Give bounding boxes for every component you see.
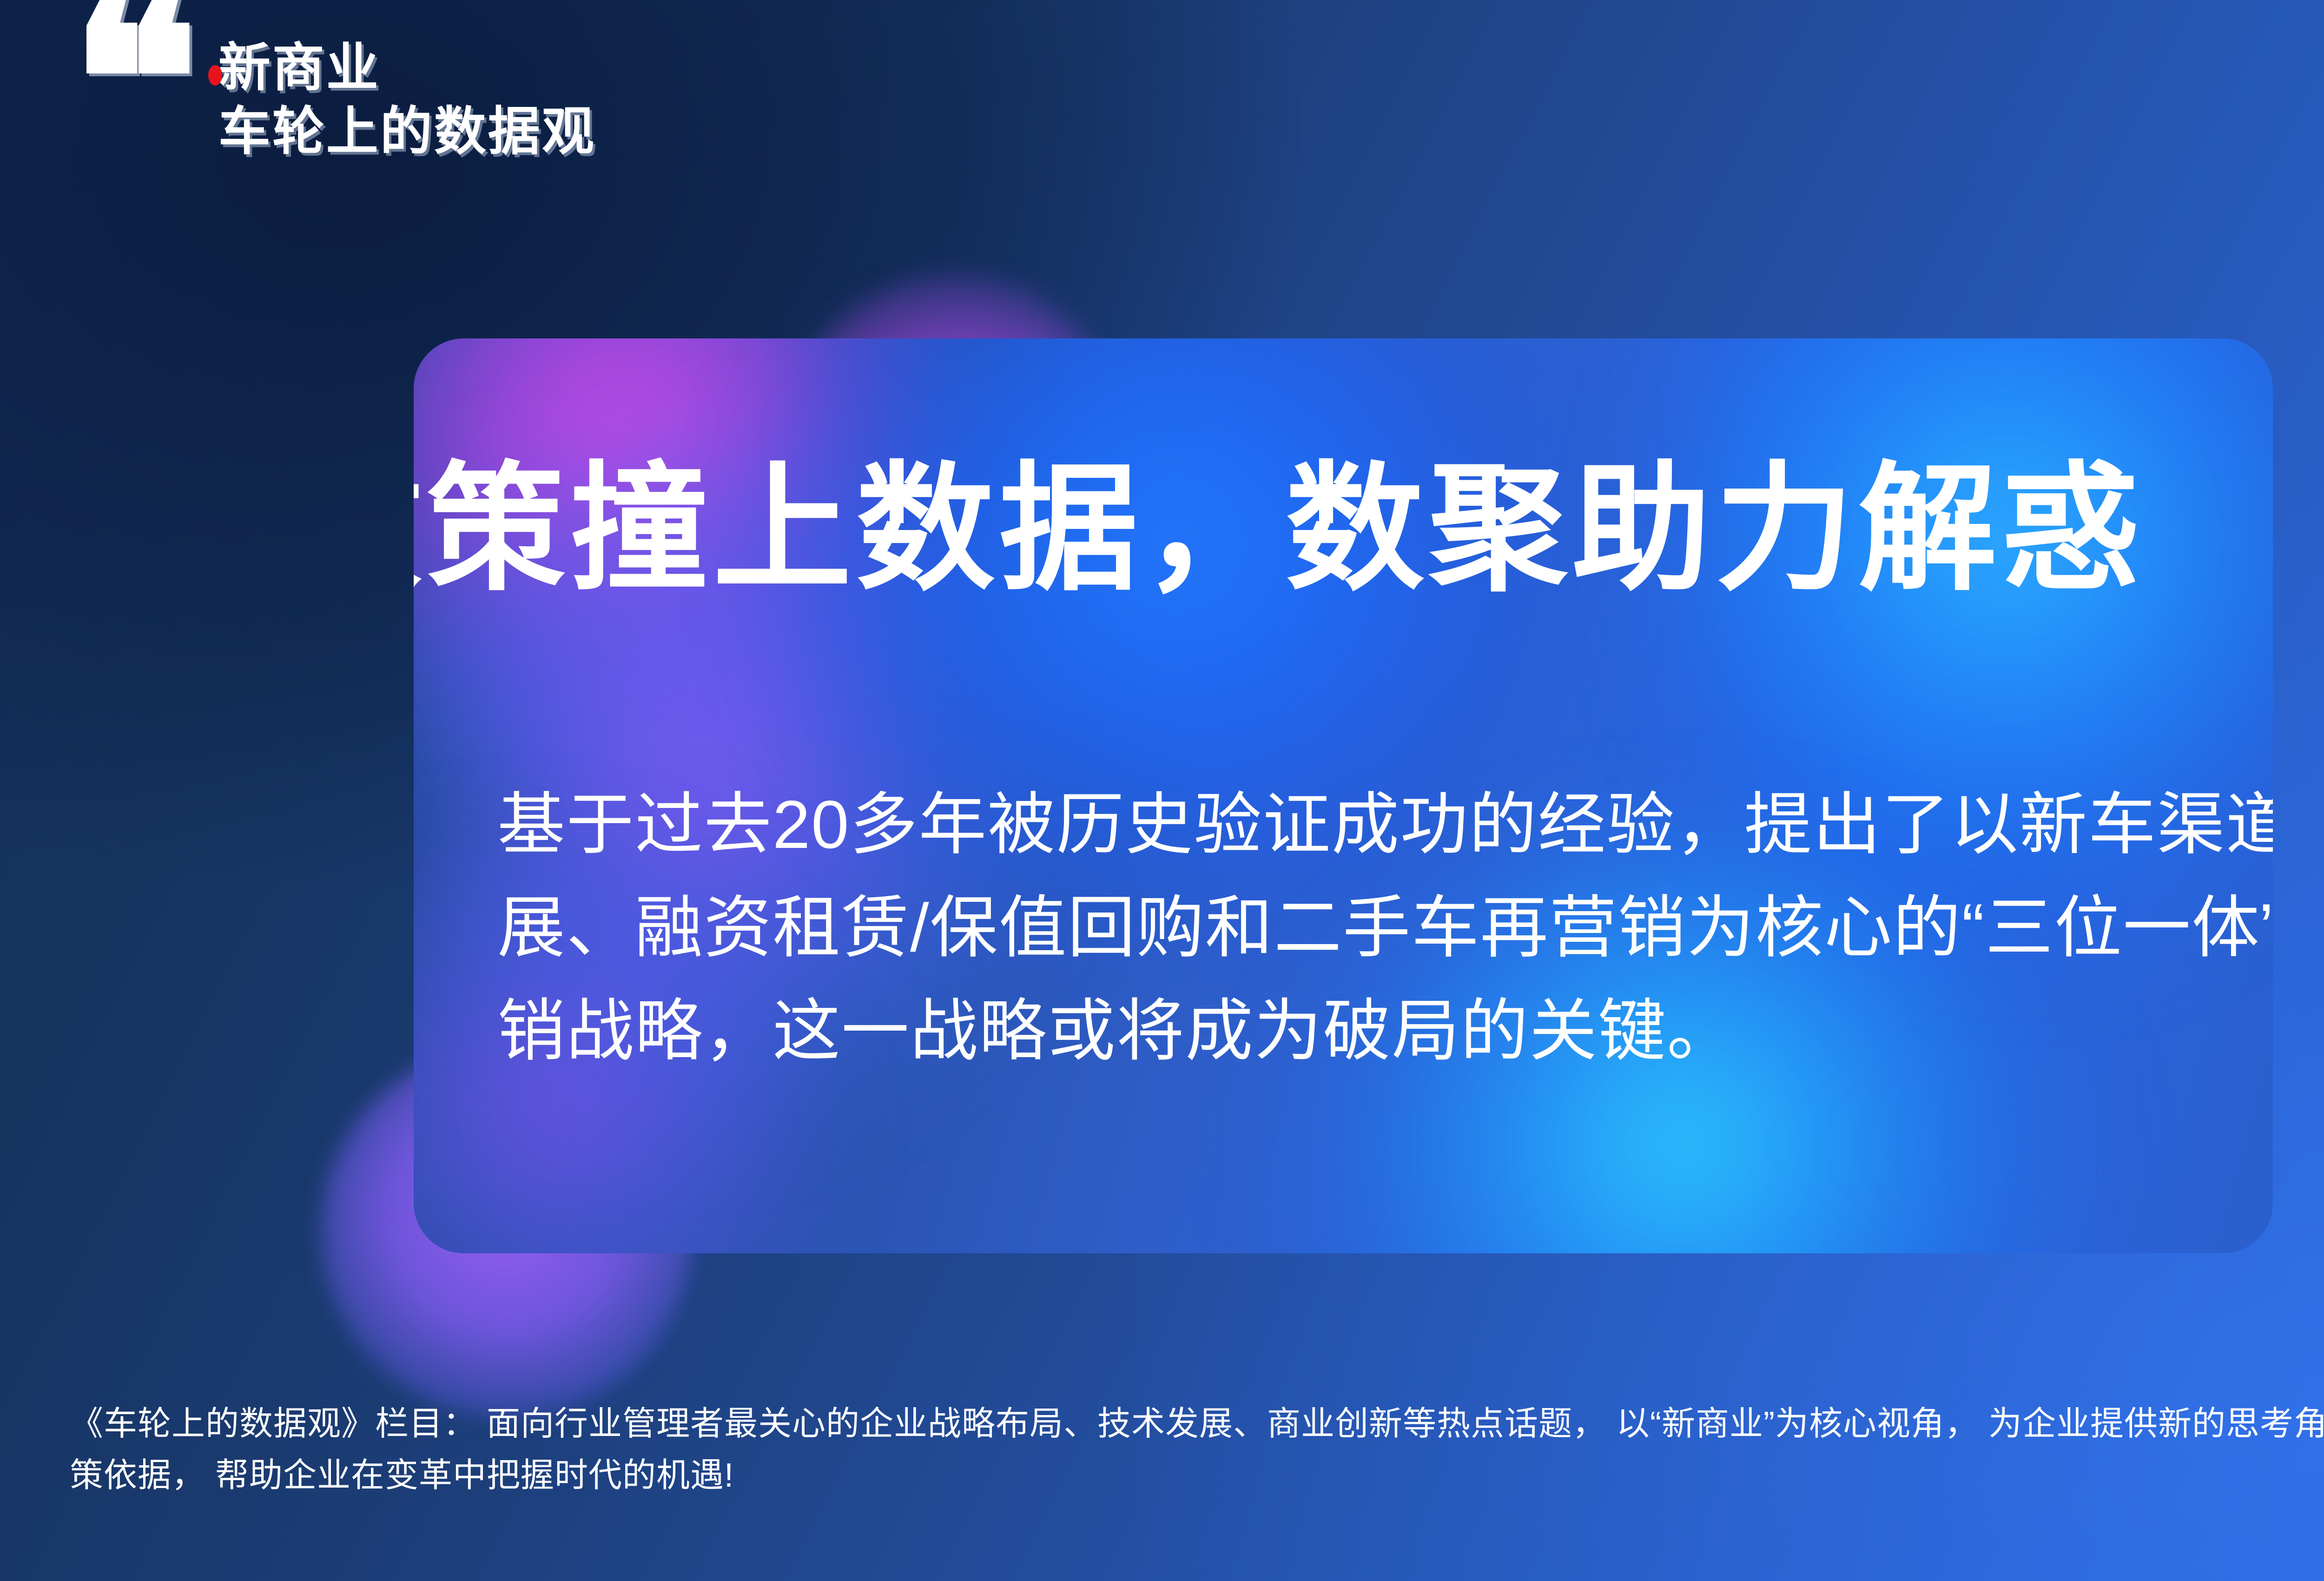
brand-logo-text: 新商业 车轮上的数据观 xyxy=(218,36,596,163)
brand-name-secondary: 车轮上的数据观 xyxy=(218,100,596,164)
brand-name-primary-label: 新商业 xyxy=(218,39,380,97)
footer-line-2: 策依据， 帮助企业在变革中把握时代的机遇! xyxy=(70,1450,2324,1502)
hero-body-line-3: 销战略，这一战略或将成为破局的关键。 xyxy=(497,979,2189,1083)
hero-card: 政策撞上数据，数聚助力解惑 基于过去20多年被历史验证成功的经验，提出了以新车渠… xyxy=(414,338,2273,1253)
hero-body-line-1: 基于过去20多年被历史验证成功的经验，提出了以新车渠道拓 xyxy=(497,773,2189,876)
brand-logo: ❝ 新商业 车轮上的数据观 xyxy=(70,28,596,163)
quote-mark-icon: ❝ xyxy=(70,6,191,155)
hero-body-line-2: 展、融资租赁/保值回购和二手车再营销为核心的“三位一体”营 xyxy=(497,876,2189,979)
footer-description: 《车轮上的数据观》栏目： 面向行业管理者最关心的企业战略布局、技术发展、商业创新… xyxy=(70,1398,2324,1502)
footer-line-1: 《车轮上的数据观》栏目： 面向行业管理者最关心的企业战略布局、技术发展、商业创新… xyxy=(70,1398,2324,1450)
hero-body-text: 基于过去20多年被历史验证成功的经验，提出了以新车渠道拓 展、融资租赁/保值回购… xyxy=(423,773,2264,1083)
brand-name-primary: 新商业 xyxy=(218,36,596,100)
red-dot-icon xyxy=(208,65,222,86)
page-title: 政策撞上数据，数聚助力解惑 xyxy=(414,455,2143,604)
